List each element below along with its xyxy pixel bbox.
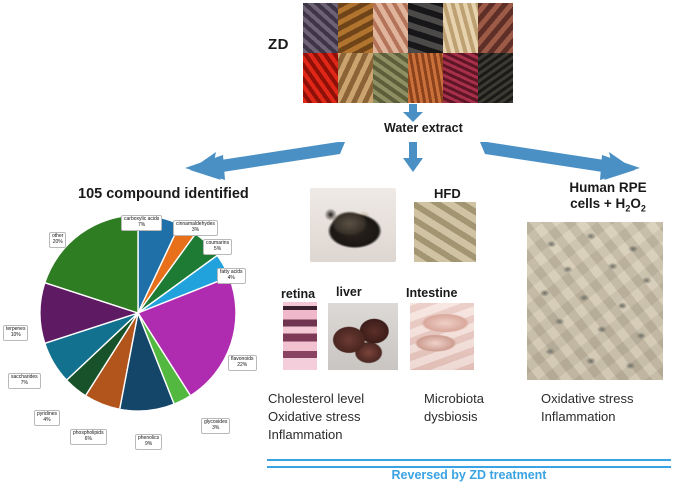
arrow-down-to-hfd-panel xyxy=(400,142,426,172)
zd-tile-dried-seeds-pale xyxy=(373,3,408,53)
zd-ingredient-grid xyxy=(303,3,513,103)
pie-label-phospholipids: phospholipids6% xyxy=(70,429,107,445)
rpe-outcome-inflammation: Inflammation xyxy=(541,408,633,426)
microbiome-outcome-line1: Microbiota xyxy=(424,390,484,408)
zd-tile-charred-pieces xyxy=(408,3,443,53)
rpe-panel-title: Human RPE cells + H2O2 xyxy=(548,180,668,215)
hfd-pellet-photo xyxy=(414,202,476,262)
pie-label-other: other20% xyxy=(49,232,66,248)
zd-source-label: ZD xyxy=(268,36,289,53)
microbiome-outcome-line2: dysbiosis xyxy=(424,408,484,426)
rpe-title-sub-2b: 2 xyxy=(641,204,646,214)
zd-tile-green-seeds xyxy=(373,53,408,103)
rpe-outcome-oxidative-stress: Oxidative stress xyxy=(541,390,633,408)
zd-tile-dried-bark-slices xyxy=(338,3,373,53)
pie-label-pyridines: pyridines4% xyxy=(34,410,60,426)
retina-label: retina xyxy=(281,287,315,301)
hfd-outcome-oxidative-stress: Oxidative stress xyxy=(268,408,364,426)
hfd-outcomes: Cholesterol level Oxidative stress Infla… xyxy=(268,390,364,444)
black-mouse-photo xyxy=(310,188,396,262)
pie-label-coumarins: coumarins5% xyxy=(203,239,232,255)
arrow-down-to-water-extract xyxy=(400,104,426,122)
pie-label-phenolics: phenolics9% xyxy=(135,434,162,450)
zd-tile-dried-rhizome xyxy=(338,53,373,103)
pie-chart-title: 105 compound identified xyxy=(78,186,249,202)
rpe-title-cells-h: cells + H xyxy=(570,196,625,211)
liver-label: liver xyxy=(336,285,362,299)
zd-tile-dried-red-slices xyxy=(478,3,513,53)
liver-tissue-photo xyxy=(328,303,398,370)
rpe-cell-culture-micrograph xyxy=(527,222,663,380)
pie-label-saccharides: saccharides7% xyxy=(8,373,41,389)
arrow-to-rpe-panel xyxy=(480,140,640,180)
zd-tile-dried-dark-berries xyxy=(303,3,338,53)
arrow-to-pie-panel xyxy=(185,140,345,180)
pie-label-cinnamaldehydes: cinnamaldehydes3% xyxy=(173,220,218,236)
zd-tile-red-grain xyxy=(443,53,478,103)
banner-divider-rule xyxy=(267,459,671,468)
rpe-title-line1: Human RPE xyxy=(548,180,668,196)
microbiome-outcomes: Microbiota dysbiosis xyxy=(424,390,484,426)
pie-label-carboxylic-acids: carboxylic acids7% xyxy=(121,215,162,231)
rpe-title-line2: cells + H2O2 xyxy=(548,196,668,215)
pie-label-glycosides: glycosides3% xyxy=(201,418,230,434)
retina-histology-photo xyxy=(283,302,317,370)
water-extract-label: Water extract xyxy=(384,121,463,135)
zd-tile-orange-grain xyxy=(408,53,443,103)
hfd-outcome-cholesterol: Cholesterol level xyxy=(268,390,364,408)
pie-label-fatty-acids: fatty acids4% xyxy=(217,268,246,284)
pie-label-flavonoids: flavonoids22% xyxy=(228,355,257,371)
hfd-outcome-inflammation: Inflammation xyxy=(268,426,364,444)
hfd-diet-label: HFD xyxy=(434,186,461,201)
pie-label-terpenes: terpenes10% xyxy=(3,325,28,341)
zd-tile-goji-berries xyxy=(303,53,338,103)
zd-tile-dried-root-strips xyxy=(443,3,478,53)
intestine-tissue-photo xyxy=(410,303,474,370)
rpe-outcomes: Oxidative stress Inflammation xyxy=(541,390,633,426)
zd-tile-black-grain xyxy=(478,53,513,103)
rpe-title-o: O xyxy=(630,196,641,211)
intestine-label: Intestine xyxy=(406,286,457,300)
reversed-by-zd-banner: Reversed by ZD treatment xyxy=(267,468,671,482)
